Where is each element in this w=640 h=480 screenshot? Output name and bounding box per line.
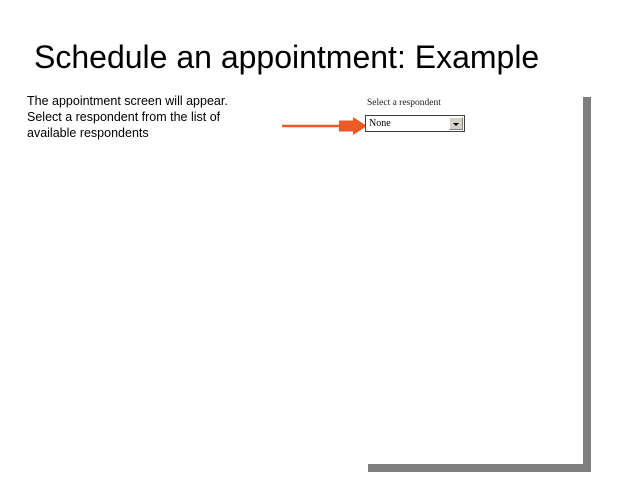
panel-shadow-bottom bbox=[368, 464, 591, 472]
respondent-select-dropdown-button[interactable] bbox=[449, 117, 463, 130]
instruction-text: The appointment screen will appear. Sele… bbox=[27, 93, 255, 141]
slide-canvas: Schedule an appointment: Example The app… bbox=[0, 0, 640, 480]
form-screenshot-fragment: Select a respondent None bbox=[365, 98, 465, 132]
chevron-down-icon bbox=[453, 123, 459, 126]
page-title: Schedule an appointment: Example bbox=[34, 38, 614, 76]
respondent-select-value: None bbox=[369, 118, 391, 130]
arrow-right-icon bbox=[281, 117, 367, 135]
respondent-select[interactable]: None bbox=[365, 115, 465, 132]
panel-shadow-right bbox=[583, 97, 591, 472]
respondent-select-label: Select a respondent bbox=[367, 98, 465, 109]
arrow-head bbox=[339, 117, 367, 135]
